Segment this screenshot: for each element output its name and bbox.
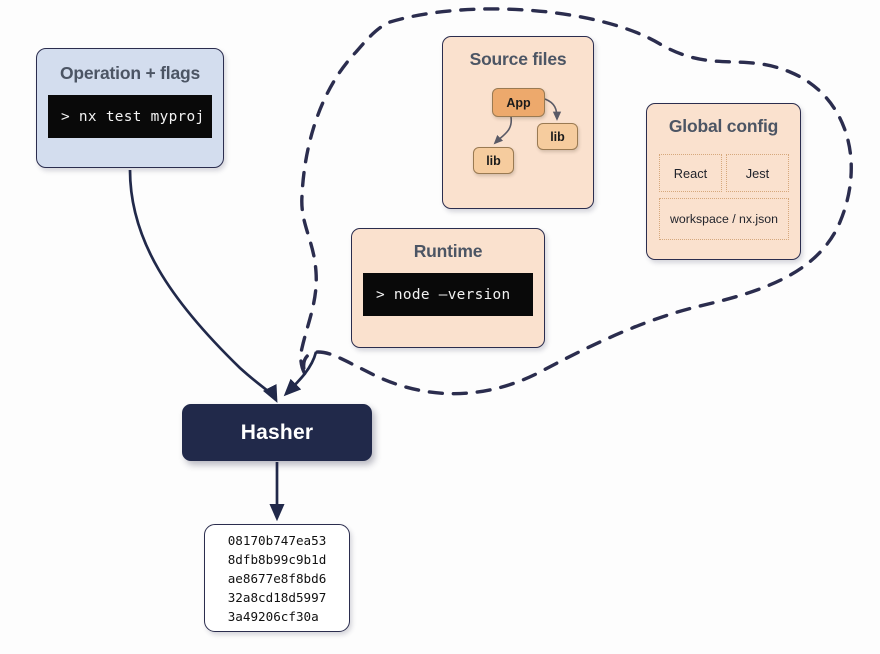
- source-files-title: Source files: [443, 49, 593, 70]
- hash-output-text: 08170b747ea53 8dfb8b99c9b1d ae8677e8f8bd…: [228, 531, 327, 626]
- operation-flags-panel: Operation + flags > nx test myproj: [36, 48, 224, 168]
- hasher-label: Hasher: [241, 421, 313, 445]
- hash-output-node: 08170b747ea53 8dfb8b99c9b1d ae8677e8f8bd…: [204, 524, 350, 632]
- arrow-app-to-lib-right: [545, 99, 557, 119]
- arrow-app-to-lib-left: [495, 117, 511, 143]
- global-config-title: Global config: [647, 116, 800, 137]
- arrow-cloud-to-hasher: [286, 352, 316, 394]
- global-config-item-workspace: workspace / nx.json: [659, 198, 789, 240]
- global-config-panel: Global config React Jest workspace / nx.…: [646, 103, 801, 260]
- source-node-lib-1: lib: [473, 147, 514, 174]
- source-node-app-label: App: [506, 96, 530, 110]
- global-config-item-react: React: [659, 154, 722, 192]
- runtime-panel: Runtime > node –version: [351, 228, 545, 348]
- global-config-item-jest: Jest: [726, 154, 789, 192]
- source-files-panel: Source files App lib lib: [442, 36, 594, 209]
- global-config-item-react-label: React: [674, 166, 707, 181]
- runtime-terminal: > node –version: [363, 273, 533, 316]
- hasher-node: Hasher: [182, 404, 372, 461]
- global-config-item-jest-label: Jest: [746, 166, 769, 181]
- source-node-lib-2-label: lib: [550, 130, 565, 144]
- diagram-canvas: Operation + flags > nx test myproj Sourc…: [0, 0, 880, 654]
- operation-flags-title: Operation + flags: [37, 63, 223, 84]
- source-node-lib-1-label: lib: [486, 154, 501, 168]
- operation-terminal: > nx test myproj: [48, 95, 212, 138]
- global-config-item-workspace-label: workspace / nx.json: [670, 212, 778, 226]
- operation-terminal-command: > nx test myproj: [61, 109, 204, 125]
- source-node-app: App: [492, 88, 545, 117]
- arrow-operation-to-hasher: [130, 170, 276, 400]
- runtime-title: Runtime: [352, 241, 544, 262]
- source-node-lib-2: lib: [537, 123, 578, 150]
- runtime-terminal-command: > node –version: [376, 287, 510, 303]
